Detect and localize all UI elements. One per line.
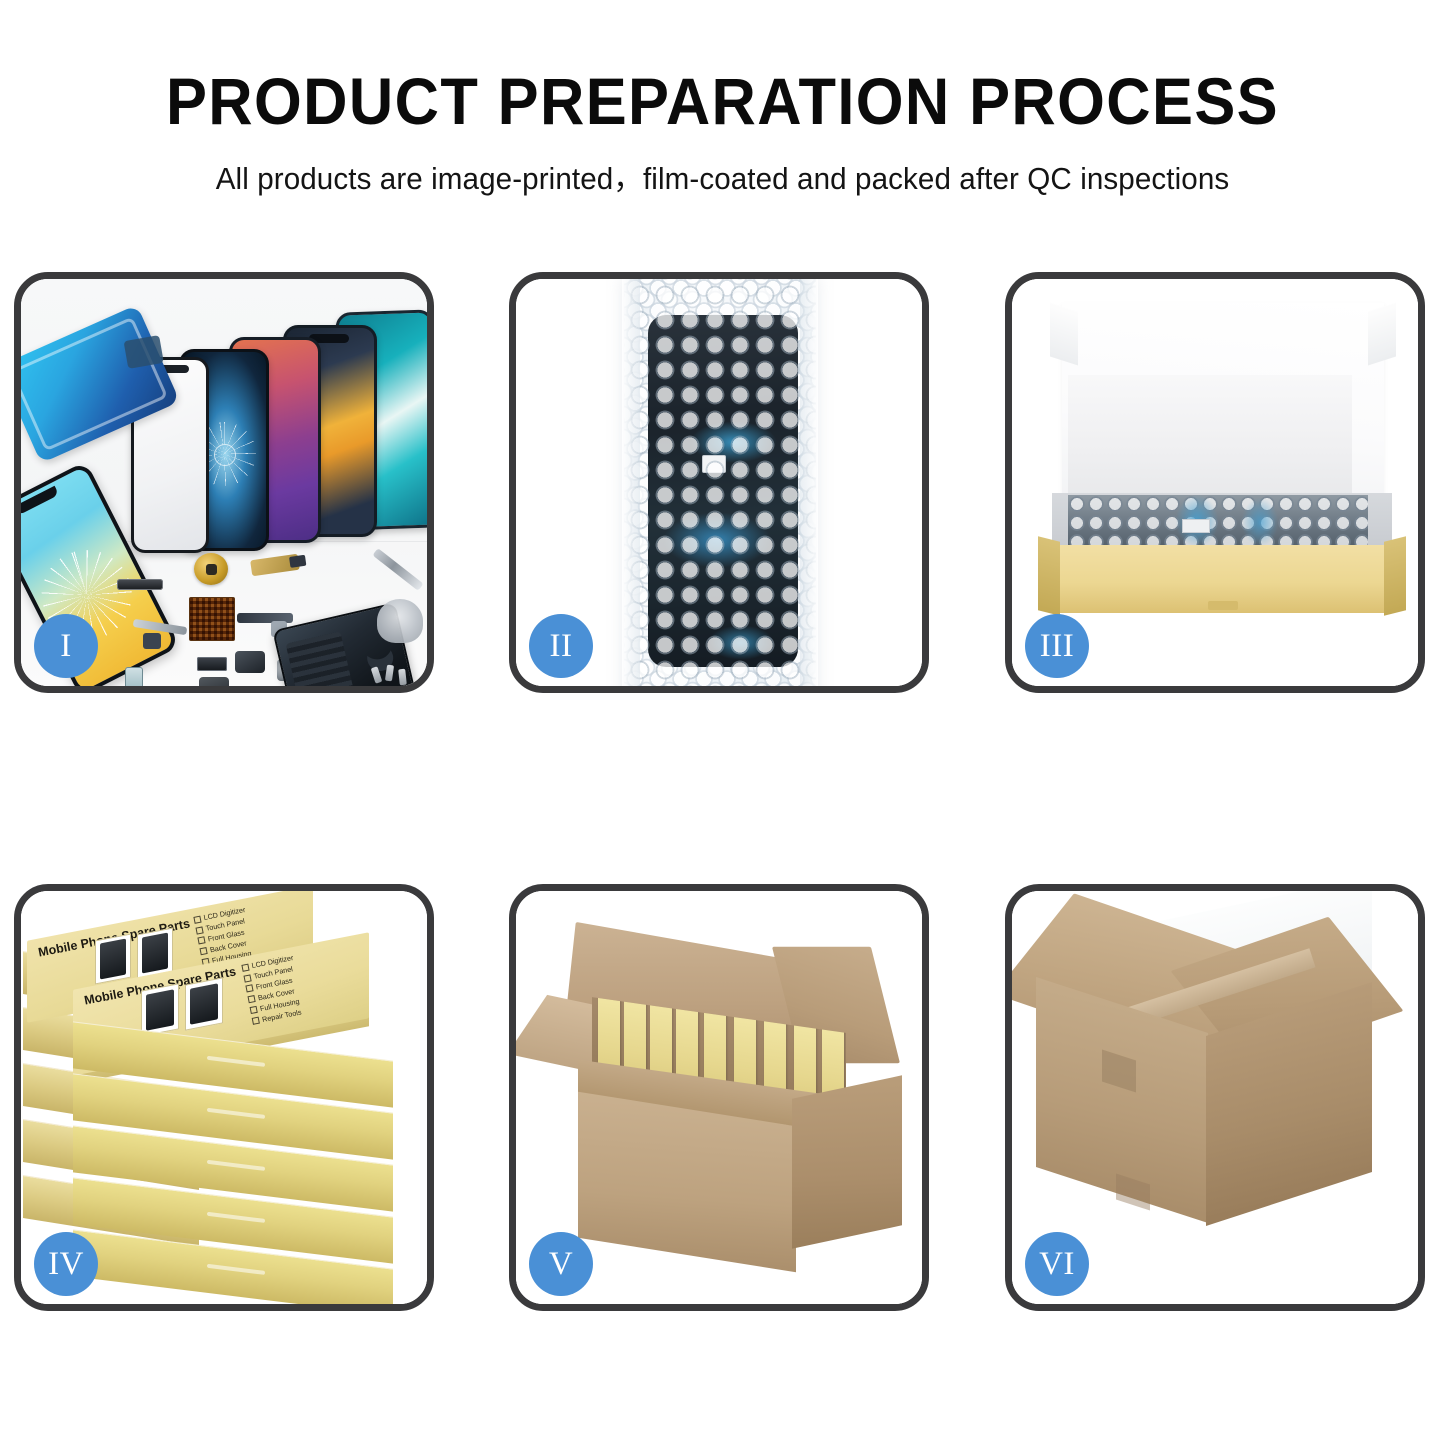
- sleeve-edge-right: [800, 279, 818, 686]
- foam-insert: [1068, 375, 1352, 503]
- wrapped-lcd-screen: [648, 315, 798, 667]
- blue-reflection-2: [663, 512, 771, 568]
- buzzer-part: [199, 677, 229, 686]
- step-badge-2: II: [529, 614, 593, 678]
- screws-part: [373, 665, 413, 685]
- taptic-engine-part: [194, 553, 228, 585]
- step-panel-2[interactable]: II: [509, 272, 929, 693]
- camera-part: [235, 651, 265, 673]
- step-badge-1: I: [34, 614, 98, 678]
- qc-label-sticker: [702, 455, 726, 473]
- step-badge-6: VI: [1025, 1232, 1089, 1296]
- speaker-part: [117, 579, 163, 590]
- step-badge-4: IV: [34, 1232, 98, 1296]
- step-badge-3: III: [1025, 614, 1089, 678]
- box-window-b1: [141, 983, 179, 1036]
- step-badge-5: V: [529, 1232, 593, 1296]
- page-title: PRODUCT PREPARATION PROCESS: [51, 68, 1395, 134]
- left-flex-part: [133, 613, 187, 651]
- hand-holding-tool: [377, 599, 423, 643]
- page-header: PRODUCT PREPARATION PROCESS All products…: [0, 68, 1445, 198]
- step-panel-4[interactable]: Mobile Phone Spare Parts LCD Digitizer T…: [14, 884, 434, 1311]
- content-blue-glow-2: [1242, 498, 1278, 546]
- sleeve-edge-left: [622, 279, 640, 686]
- step-panel-3[interactable]: III: [1005, 272, 1425, 693]
- bubble-wrapped-contents: [1068, 495, 1368, 547]
- content-label-sticker: [1182, 519, 1210, 533]
- step-panel-6[interactable]: VI: [1005, 884, 1425, 1311]
- blue-reflection-3: [708, 625, 774, 660]
- box-window-b2: [185, 977, 223, 1030]
- step-panel-1[interactable]: I: [14, 272, 434, 693]
- step-panel-5[interactable]: V: [509, 884, 929, 1311]
- page-subtitle: All products are image-printed，film-coat…: [22, 154, 1424, 198]
- ic-chip-part: [189, 597, 235, 641]
- mailer-front-notch: [1208, 601, 1238, 610]
- sim-tray-part: [125, 667, 143, 686]
- box-window-a1: [95, 934, 131, 985]
- right-box-stack: [73, 1041, 393, 1301]
- small-chip-part: [197, 657, 227, 671]
- process-steps-grid: I II: [14, 272, 1434, 1318]
- carton-side-face: [792, 1075, 902, 1248]
